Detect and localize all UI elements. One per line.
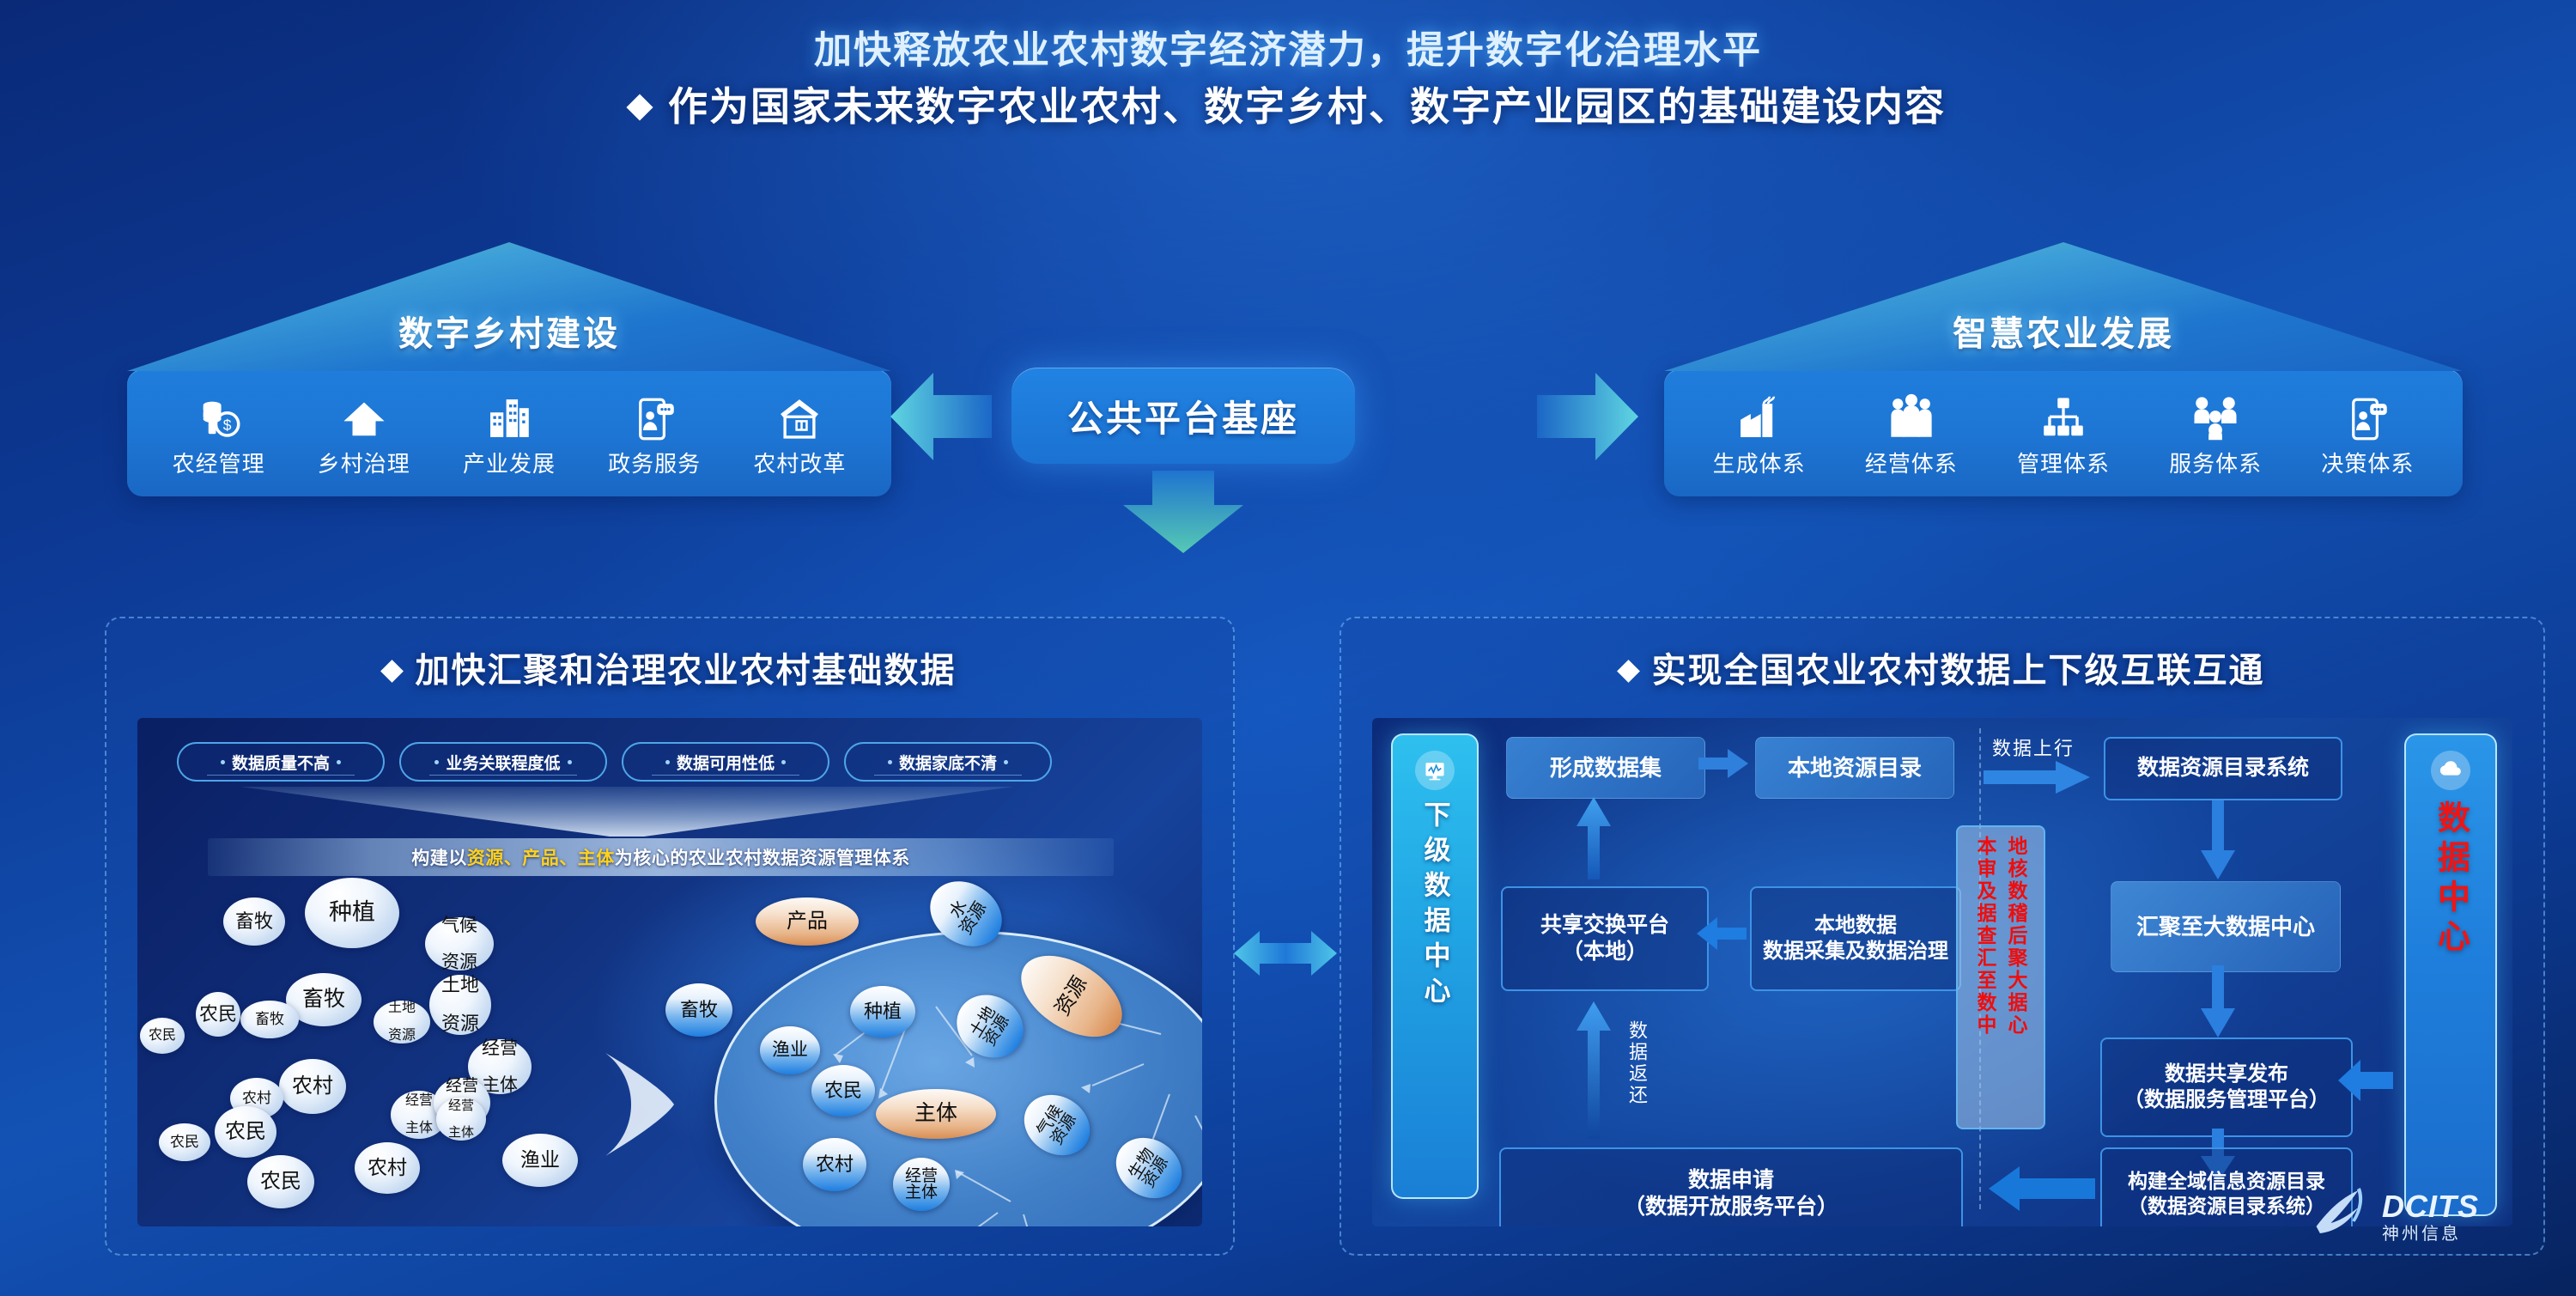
arrow-right-icon (1537, 369, 1640, 468)
flow-box-exchange-platform[interactable]: 共享交换平台 （本地） (1501, 886, 1709, 991)
cloud-bubble: 农民 (247, 1155, 314, 1208)
oval-node: 经营主体 (893, 1158, 950, 1211)
panel-link-double-arrow-icon (1234, 926, 1337, 985)
brand-logo: DCITS 神州信息 (2310, 1183, 2479, 1250)
arrow-up-to-dataset-icon (1577, 797, 1611, 884)
red-note-box: 地核数稽后聚大据心 本审及据查汇至数中 (1956, 825, 2045, 1129)
cloud-bubble: 畜牧 (240, 1001, 299, 1038)
red-note-col-right: 地核数稽后聚大据心 (2002, 836, 2031, 1119)
bullet-dot-icon (434, 760, 439, 764)
service-people-icon (2191, 388, 2239, 441)
issue-pill-label: 业务关联程度低 (446, 751, 560, 774)
flow-box-data-apply[interactable]: 数据申请 （数据开放服务平台） (1499, 1147, 1963, 1226)
pill-underline (652, 775, 799, 776)
pill-underline (874, 775, 1021, 776)
issue-pill-label: 数据可用性低 (677, 751, 775, 774)
flow-box-local-catalog[interactable]: 本地资源目录 (1755, 737, 1954, 799)
feature-label: 经营体系 (1865, 447, 1958, 478)
house-left-roof-label: 数字乡村建设 (127, 306, 891, 356)
oval-node: 产品 (756, 897, 859, 946)
feature-fuwu-tixi[interactable]: 服务体系 (2147, 388, 2283, 478)
cloud-bubble: 渔业 (502, 1134, 578, 1187)
cloud-bubble: 农民 (140, 1018, 185, 1054)
bullet-dot-icon (665, 760, 670, 764)
panel-left-heading: 加快汇聚和治理农业农村基础数据 (106, 642, 1233, 692)
cluster-to-oval-arrow-icon (605, 1053, 674, 1160)
mobile-decision-icon (2345, 388, 2390, 441)
house-left-body: $ 农经管理 乡村治理 产业发展 政务服务 (127, 369, 891, 496)
village-house-icon (776, 388, 823, 441)
issue-pill-label: 数据家底不清 (899, 751, 997, 774)
feature-label: 生成体系 (1713, 447, 1806, 478)
cloud-bubble: 农民 (159, 1123, 210, 1161)
cloud-bubble: 土地资源 (429, 975, 491, 1035)
house-right-roof-label: 智慧农业发展 (1664, 306, 2463, 356)
panel-right-heading: 实现全国农业农村数据上下级互联互通 (1341, 642, 2543, 692)
flow-box-form-dataset[interactable]: 形成数据集 (1506, 737, 1705, 799)
platform-base-card[interactable]: 公共平台基座 (1012, 368, 1355, 464)
issue-pill-3[interactable]: 数据可用性低 (622, 742, 829, 782)
oval-node: 农民 (811, 1065, 875, 1117)
arrow-down-icon (1123, 471, 1243, 557)
feature-shengcheng-tixi[interactable]: 生成体系 (1691, 388, 1827, 478)
panel-right-heading-text: 实现全国农业农村数据上下级互联互通 (1652, 652, 2265, 690)
issue-pill-4[interactable]: 数据家底不清 (844, 742, 1052, 782)
house-right-roof: 智慧农业发展 (1664, 242, 2463, 371)
page-subtitle-text: 作为国家未来数字农业农村、数字乡村、数字产业园区的基础建设内容 (668, 84, 1946, 129)
arrow-left-icon (889, 369, 992, 468)
arrow-left-from-dc-icon (2338, 1060, 2393, 1105)
oval-node: 主体 (876, 1089, 996, 1139)
people-group-icon (1887, 388, 1935, 441)
sidebar-lower-label: 下级数据中心 (1416, 800, 1455, 1012)
banner-suffix: 为核心的农业农村数据资源管理体系 (615, 844, 910, 870)
home-icon (341, 388, 387, 441)
page-title: 加快释放农业农村数字经济潜力，提升数字化治理水平 (0, 19, 2576, 74)
feature-zhengwu-fuwu[interactable]: 政务服务 (589, 388, 720, 478)
arrow-right-small-icon (1698, 749, 1748, 782)
feature-chanye-fazhan[interactable]: 产业发展 (444, 388, 574, 478)
feature-guanli-tixi[interactable]: 管理体系 (1995, 388, 2131, 478)
flow-box-aggregate-bigdata[interactable]: 汇聚至大数据中心 (2111, 881, 2341, 972)
logo-mark-icon (2303, 1183, 2380, 1250)
core-system-banner: 构建以资源、产品、主体为核心的农业农村数据资源管理体系 (208, 838, 1114, 876)
feature-juece-tixi[interactable]: 决策体系 (2300, 388, 2436, 478)
oval-node: 种植 (850, 986, 915, 1037)
bullet-dot-icon (781, 760, 786, 764)
feature-label: 决策体系 (2321, 447, 2414, 478)
house-right-body: 生成体系 经营体系 管理体系 服务体系 (1664, 369, 2463, 496)
cloud-bubble: 土地资源 (374, 1001, 430, 1043)
feature-label: 乡村治理 (318, 447, 410, 478)
banner-prefix: 构建以 (411, 844, 467, 870)
cloud-bubble: 气候资源 (425, 917, 494, 970)
flow-box-local-data-collection[interactable]: 本地数据 数据采集及数据治理 (1750, 886, 1961, 991)
feature-xiangcun-zhili[interactable]: 乡村治理 (299, 388, 429, 478)
logo-cn: 神州信息 (2382, 1226, 2479, 1243)
oval-node: 畜牧 (665, 983, 732, 1037)
arrow-down-catalog-icon (2201, 800, 2235, 884)
pill-underline (429, 775, 576, 776)
red-note-col-left: 本审及据查汇至数中 (1971, 836, 2000, 1119)
org-chart-icon (2040, 388, 2087, 441)
label-data-uplink: 数据上行 (1992, 733, 2075, 761)
sidebar-data-center[interactable]: 数据中心 (2404, 733, 2497, 1216)
cloud-bubble: 农村 (355, 1142, 420, 1194)
pill-underline (207, 775, 354, 776)
arrow-down-publish-icon (2201, 965, 2235, 1042)
logo-en: DCITS (2382, 1191, 2479, 1222)
cloud-bubble: 经营主体 (436, 1098, 486, 1141)
banner-highlight: 资源、产品、主体 (467, 844, 615, 870)
feature-label: 管理体系 (2017, 447, 2110, 478)
bullet-dot-icon (888, 760, 892, 764)
arrow-left-small-icon (1697, 917, 1747, 954)
slide-root: 加快释放农业农村数字经济潜力，提升数字化治理水平 作为国家未来数字农业农村、数字… (0, 0, 2576, 1296)
page-subtitle: 作为国家未来数字农业农村、数字乡村、数字产业园区的基础建设内容 (0, 76, 2576, 132)
oval-node: 渔业 (760, 1026, 820, 1074)
factory-icon (1736, 388, 1783, 441)
cloud-bubble: 农村 (279, 1059, 346, 1114)
issue-pill-2[interactable]: 业务关联程度低 (399, 742, 607, 782)
diamond-bullet-icon (1617, 660, 1640, 683)
arrow-up-return-icon (1577, 1001, 1611, 1143)
bullet-dot-icon (337, 760, 341, 764)
house-right: 智慧农业发展 生成体系 经营体系 管理体系 (1664, 242, 2463, 496)
cloud-bubble: 畜牧 (223, 897, 285, 946)
panel-right: 实现全国农业农村数据上下级互联互通 下级数据中心 数据中心 形成数据集 (1340, 617, 2545, 1256)
feature-nongcun-gaige[interactable]: 农村改革 (734, 388, 865, 478)
issue-pill-label: 数据质量不高 (232, 751, 330, 774)
oval-node: 农村 (803, 1138, 866, 1191)
label-data-return: 数据返还 (1623, 1020, 1650, 1106)
feature-nongjing-guanli[interactable]: $ 农经管理 (153, 388, 283, 478)
monitor-chart-icon (1415, 751, 1455, 790)
feature-label: 产业发展 (463, 447, 556, 478)
feature-label: 农经管理 (173, 447, 265, 478)
panel-right-canvas: 下级数据中心 数据中心 形成数据集 本地资源目录 数据上行 数据资源目录系统 (1372, 718, 2512, 1226)
cloud-icon (2431, 751, 2470, 790)
money-coin-icon: $ (195, 388, 243, 441)
arrow-uplink-icon (1984, 761, 2090, 798)
panel-left-heading-text: 加快汇聚和治理农业农村基础数据 (416, 652, 957, 690)
flow-box-catalog-system[interactable]: 数据资源目录系统 (2104, 737, 2342, 800)
bullet-dot-icon (568, 760, 572, 764)
house-left-roof: 数字乡村建设 (127, 242, 891, 371)
mobile-service-icon (632, 388, 677, 441)
feature-label: 服务体系 (2169, 447, 2262, 478)
cloud-bubble: 农民 (215, 1106, 276, 1158)
flow-box-data-share-publish[interactable]: 数据共享发布 （数据服务管理平台） (2100, 1037, 2353, 1137)
house-left: 数字乡村建设 $ 农经管理 乡村治理 产业发展 (127, 242, 891, 496)
issue-pill-1[interactable]: 数据质量不高 (177, 742, 385, 782)
sidebar-data-center-label: 数据中心 (2427, 800, 2475, 958)
cloud-bubble: 农民 (196, 992, 240, 1037)
diamond-bullet-icon (380, 660, 404, 683)
platform-base-label: 公共平台基座 (1067, 390, 1299, 442)
arrow-left-to-apply-icon (1989, 1166, 2095, 1215)
buildings-icon (486, 388, 532, 441)
feature-jingying-tixi[interactable]: 经营体系 (1843, 388, 1979, 478)
bullet-dot-icon (221, 760, 225, 764)
diamond-bullet-icon (626, 94, 653, 120)
feature-label: 政务服务 (608, 447, 701, 478)
feature-label: 农村改革 (753, 447, 846, 478)
funnel-shape-icon (240, 787, 1013, 838)
bullet-dot-icon (1004, 760, 1008, 764)
logo-text: DCITS 神州信息 (2382, 1191, 2479, 1243)
svg-text:$: $ (222, 416, 231, 433)
sidebar-lower-data-center[interactable]: 下级数据中心 (1391, 733, 1479, 1199)
cloud-bubble: 种植 (305, 878, 399, 948)
